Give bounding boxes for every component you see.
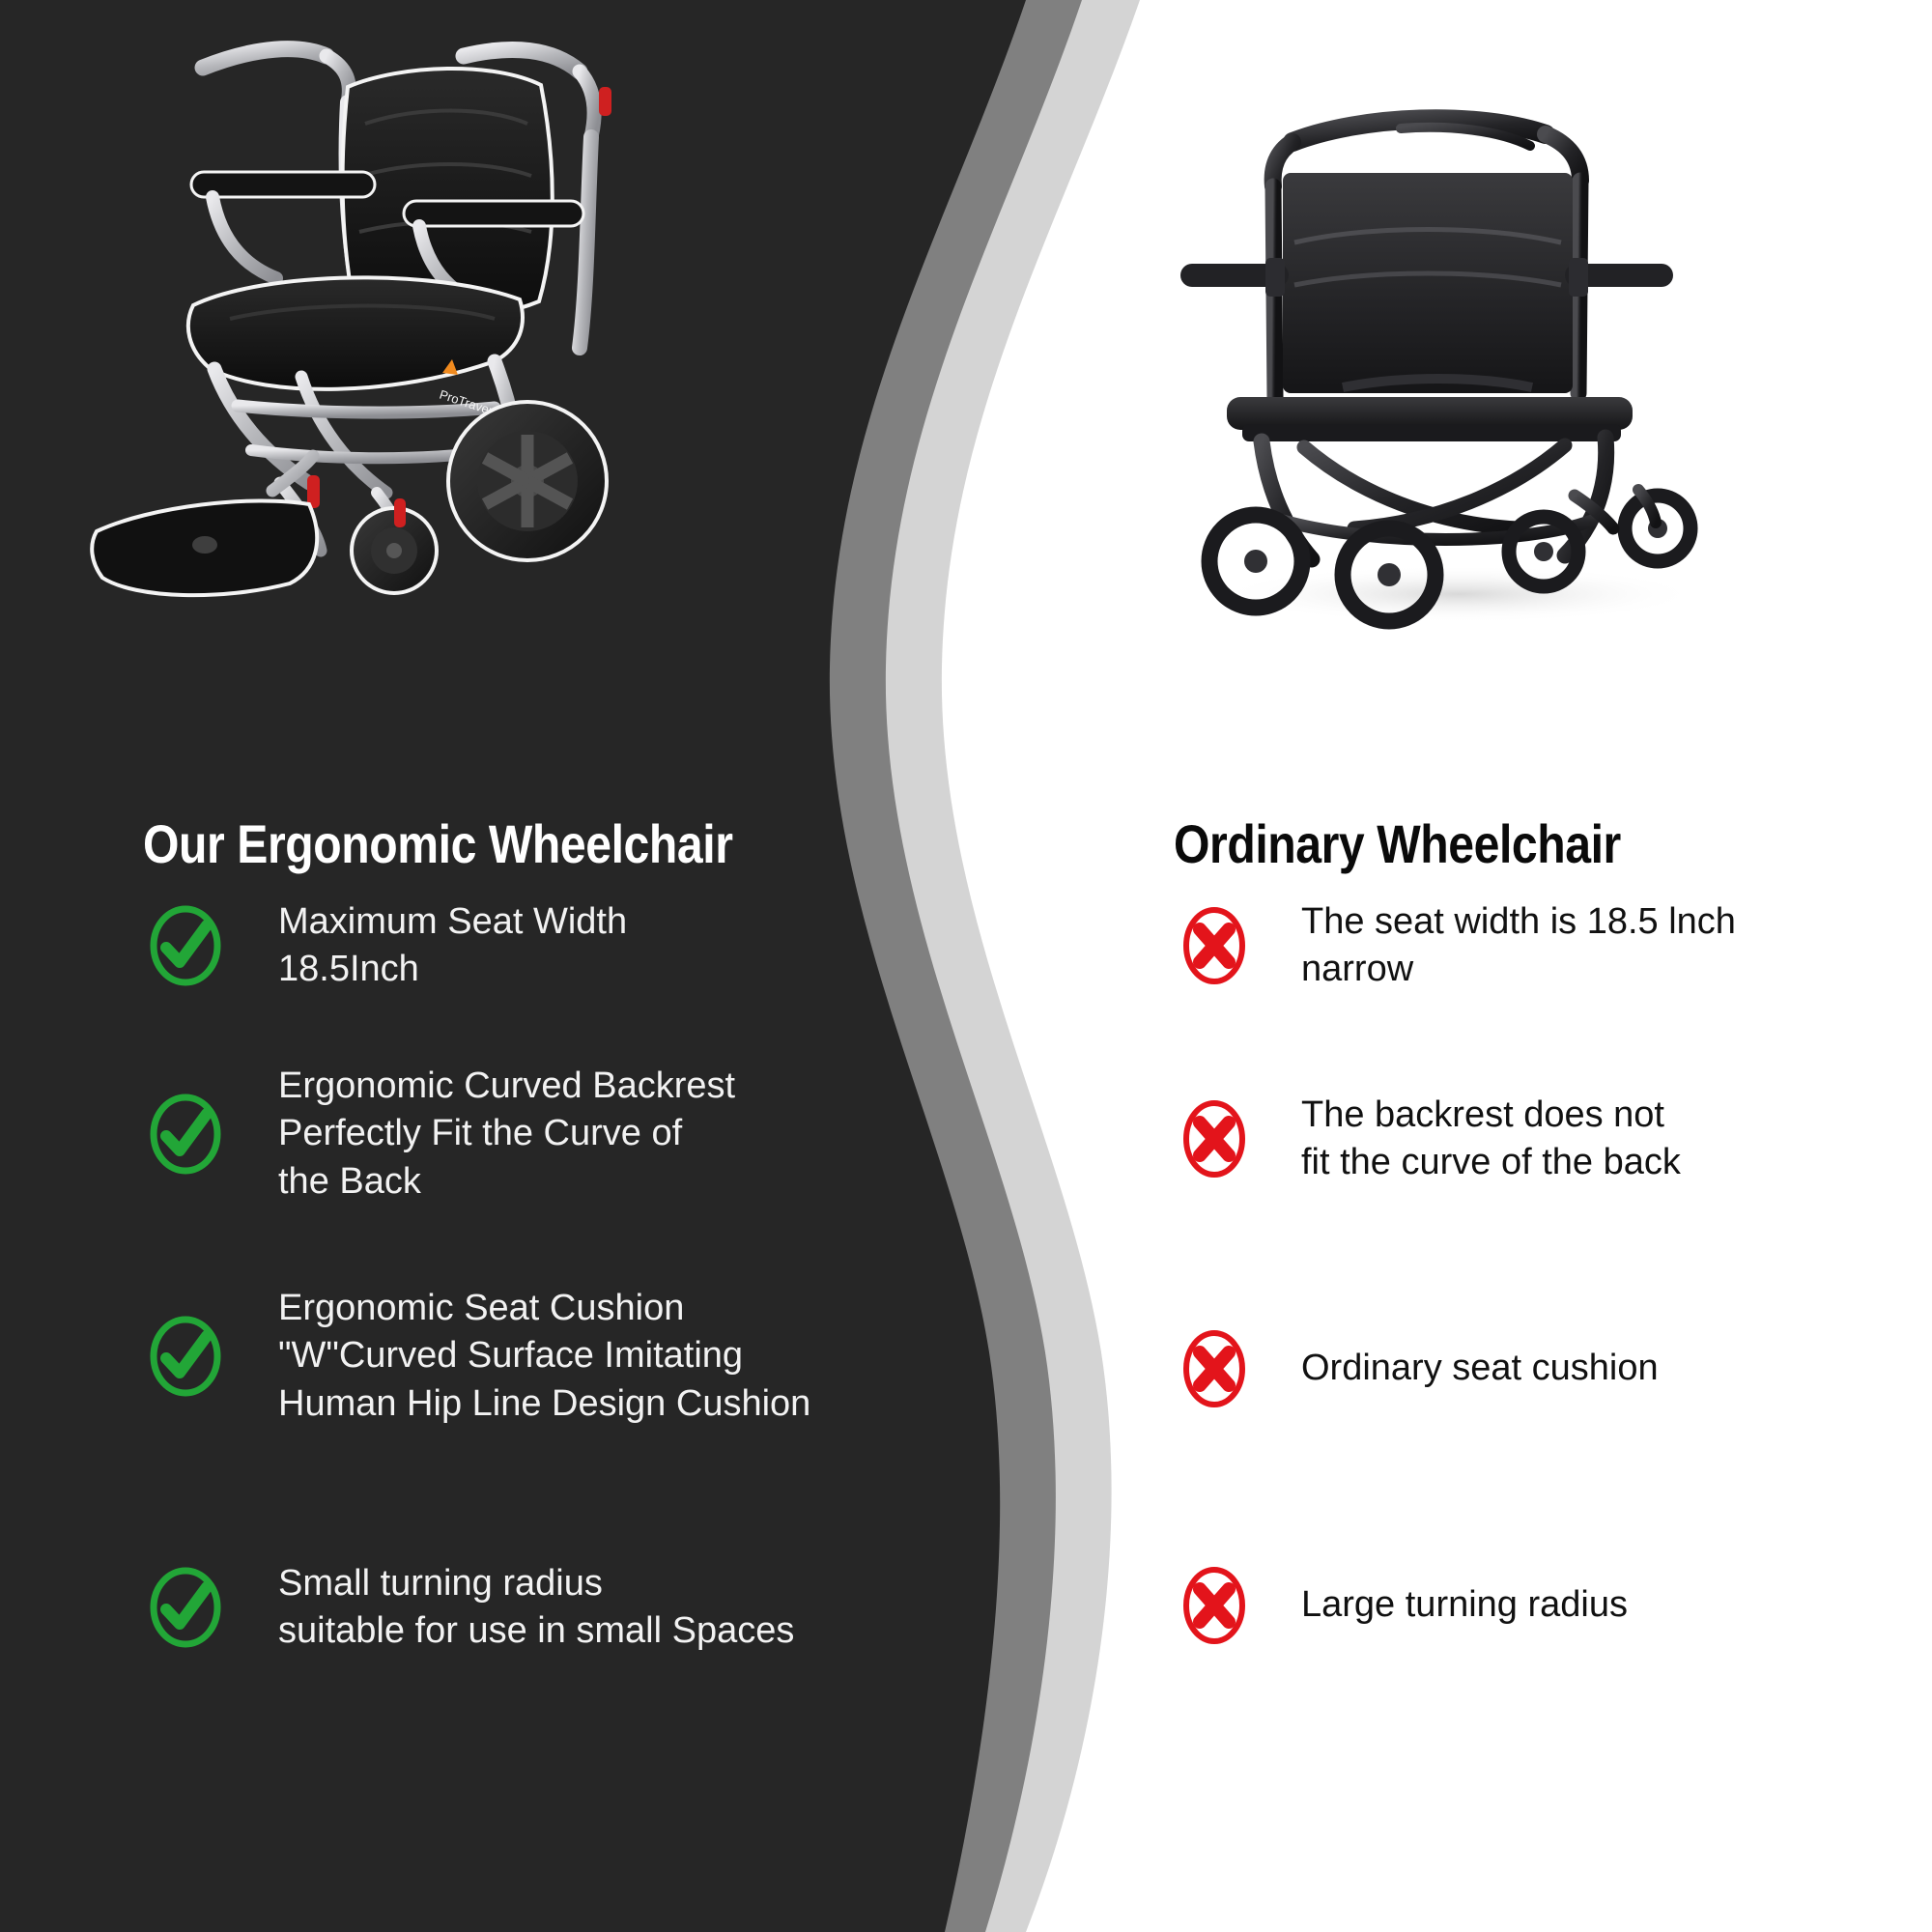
left-heading: Our Ergonomic Wheelchair	[143, 812, 829, 875]
rear-wheel	[448, 402, 607, 560]
ordinary-wheelchair-image	[1159, 92, 1758, 633]
right-heading-text: Ordinary Wheelchair	[1174, 812, 1621, 875]
right-feature-text-4: Large turning radius	[1301, 1581, 1628, 1629]
left-feature-item-4: Small turning radius suitable for use in…	[145, 1560, 794, 1656]
check-circle-icon	[145, 1567, 226, 1648]
right-feature-item-4: Large turning radius	[1174, 1565, 1628, 1646]
backrest-cushion	[1283, 173, 1573, 393]
cross-circle-icon	[1174, 1565, 1255, 1646]
right-feature-text-1: The seat width is 18.5 lnch narrow	[1301, 898, 1736, 994]
right-column: Ordinary Wheelchair The seat width is 18…	[966, 0, 1932, 1932]
left-feature-item-1: Maximum Seat Width 18.5Inch	[145, 898, 627, 994]
left-feature-item-3: Ergonomic Seat Cushion "W"Curved Surface…	[145, 1285, 810, 1428]
cross-circle-icon	[1174, 905, 1255, 986]
right-feature-item-2: The backrest does not fit the curve of t…	[1174, 1092, 1681, 1187]
left-column: ProTraverse	[0, 0, 966, 1932]
cross-circle-icon	[1174, 1328, 1255, 1409]
left-feature-text-4: Small turning radius suitable for use in…	[278, 1560, 794, 1656]
right-feature-item-1: The seat width is 18.5 lnch narrow	[1174, 898, 1736, 994]
ergonomic-wheelchair-image: ProTraverse	[58, 29, 773, 647]
left-feature-text-3: Ergonomic Seat Cushion "W"Curved Surface…	[278, 1285, 810, 1428]
left-feature-text-2: Ergonomic Curved Backrest Perfectly Fit …	[278, 1063, 735, 1206]
footplate	[92, 500, 317, 595]
right-heading: Ordinary Wheelchair	[1174, 812, 1693, 875]
cross-circle-icon	[1174, 1098, 1255, 1179]
check-circle-icon	[145, 905, 226, 986]
left-feature-text-1: Maximum Seat Width 18.5Inch	[278, 898, 627, 994]
left-feature-item-2: Ergonomic Curved Backrest Perfectly Fit …	[145, 1063, 735, 1206]
left-heading-text: Our Ergonomic Wheelchair	[143, 812, 733, 875]
right-feature-text-3: Ordinary seat cushion	[1301, 1345, 1659, 1392]
check-circle-icon	[145, 1094, 226, 1175]
right-feature-item-3: Ordinary seat cushion	[1174, 1328, 1659, 1409]
comparison-infographic: ProTraverse	[0, 0, 1932, 1932]
seat-cushion	[188, 277, 523, 388]
right-feature-text-2: The backrest does not fit the curve of t…	[1301, 1092, 1681, 1187]
check-circle-icon	[145, 1316, 226, 1397]
